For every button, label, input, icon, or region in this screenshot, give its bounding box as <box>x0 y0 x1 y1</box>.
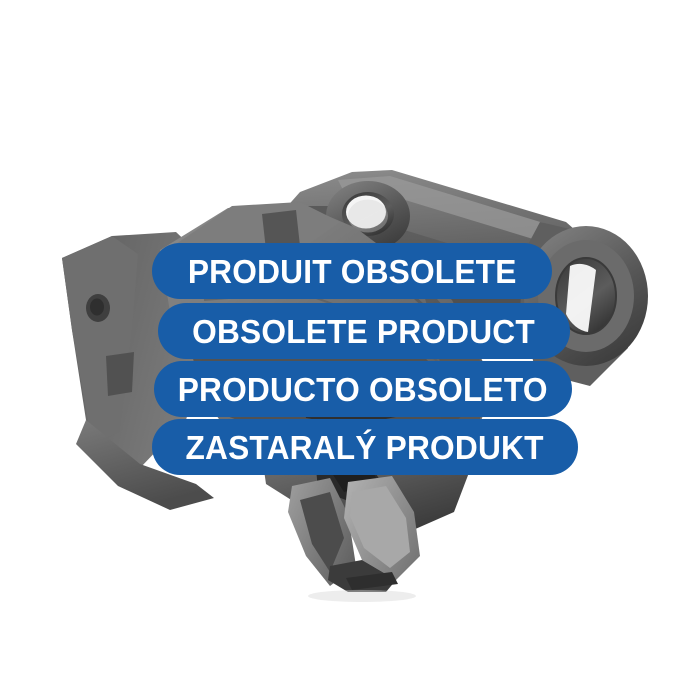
obsolete-banner-fr-label: PRODUIT OBSOLETE <box>188 255 517 288</box>
obsolete-banner-cs: ZASTARALÝ PRODUKT <box>152 419 578 475</box>
obsolete-banner-en: OBSOLETE PRODUCT <box>158 303 570 359</box>
obsolete-banner-es: PRODUCTO OBSOLETO <box>154 361 572 417</box>
obsolete-banner-stack: PRODUIT OBSOLETE OBSOLETE PRODUCT PRODUC… <box>0 243 700 475</box>
obsolete-banner-fr: PRODUIT OBSOLETE <box>152 243 552 299</box>
obsolete-banner-es-label: PRODUCTO OBSOLETO <box>178 373 548 406</box>
obsolete-product-image: PRODUIT OBSOLETE OBSOLETE PRODUCT PRODUC… <box>0 0 700 700</box>
obsolete-banner-cs-label: ZASTARALÝ PRODUKT <box>186 431 544 464</box>
obsolete-banner-en-label: OBSOLETE PRODUCT <box>193 315 536 348</box>
